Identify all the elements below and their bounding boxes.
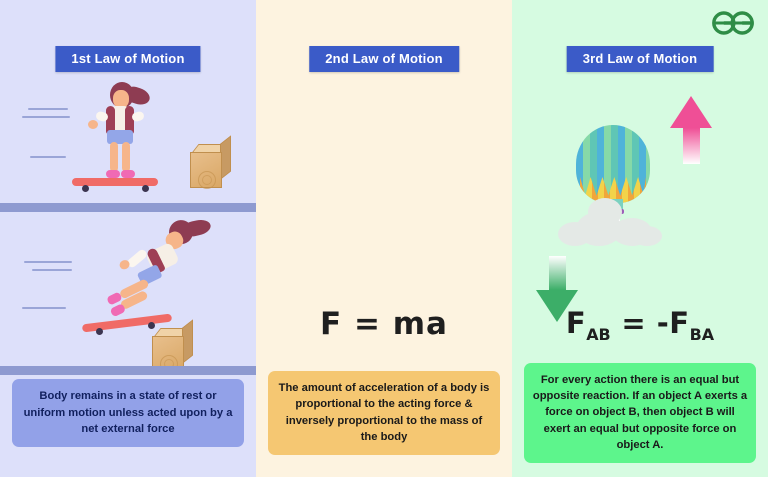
newtons-laws-infographic: 1st Law of Motion	[0, 0, 768, 477]
panel-third-law: 3rd Law of Motion FAB = -FBA For every a…	[512, 0, 768, 477]
caption-third-law: For every action there is an equal but o…	[524, 363, 756, 463]
formula-lhs-subscript: AB	[586, 325, 610, 344]
panel-second-law: 2nd Law of Motion a	[256, 0, 512, 477]
scene-skater-falling	[0, 215, 256, 373]
action-arrow-up	[670, 96, 712, 164]
ground-line-lower	[0, 366, 256, 375]
scene-skater-rolling	[0, 80, 256, 208]
formula-rhs-subscript: BA	[690, 325, 714, 344]
geeksforgeeks-logo	[710, 8, 756, 38]
panel-title-first-law: 1st Law of Motion	[55, 46, 200, 72]
formula-third-law: FAB = -FBA	[512, 306, 768, 344]
panel-title-third-law: 3rd Law of Motion	[567, 46, 714, 72]
exhaust-cloud	[558, 196, 666, 248]
formula-second-law: F = ma	[256, 306, 512, 342]
panel-first-law: 1st Law of Motion	[0, 0, 256, 477]
caption-first-law: Body remains in a state of rest or unifo…	[12, 379, 244, 447]
formula-rhs: -F	[657, 306, 690, 340]
formula-equals: =	[621, 306, 646, 340]
caption-second-law: The amount of acceleration of a body is …	[268, 371, 500, 455]
panel-title-second-law: 2nd Law of Motion	[309, 46, 459, 72]
formula-lhs: F	[566, 306, 586, 340]
ground-line-upper	[0, 203, 256, 212]
